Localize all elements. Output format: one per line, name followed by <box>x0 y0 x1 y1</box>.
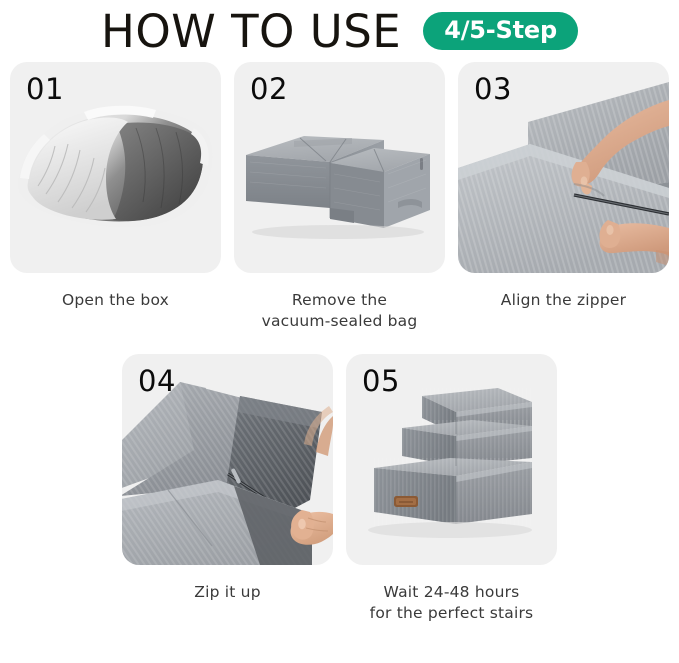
step-caption-01: Open the box <box>62 290 169 311</box>
step-caption-03: Align the zipper <box>501 290 626 311</box>
step-card-02: 02 <box>234 62 445 332</box>
steps-row-bottom: 04 <box>0 354 679 624</box>
page-header: HOW TO USE 4/5-Step <box>0 0 679 62</box>
step-card-04: 04 <box>122 354 333 624</box>
page-title: HOW TO USE <box>101 9 401 54</box>
step-image-card-03: 03 <box>458 62 669 273</box>
step-number-03: 03 <box>474 73 512 105</box>
step-number-05: 05 <box>362 365 400 397</box>
step-caption-04: Zip it up <box>194 582 260 603</box>
step-number-01: 01 <box>26 73 64 105</box>
step-image-card-05: 05 <box>346 354 557 565</box>
step-card-03: 03 <box>458 62 669 332</box>
step-count-badge: 4/5-Step <box>423 12 578 50</box>
step-card-05: 05 <box>346 354 557 624</box>
step-image-card-04: 04 <box>122 354 333 565</box>
step-number-02: 02 <box>250 73 288 105</box>
steps-row-top: 01 <box>0 62 679 332</box>
step-card-01: 01 <box>10 62 221 332</box>
step-image-card-02: 02 <box>234 62 445 273</box>
steps-grid: 01 <box>0 62 679 624</box>
step-caption-05: Wait 24-48 hours for the perfect stairs <box>370 582 534 624</box>
step-image-card-01: 01 <box>10 62 221 273</box>
step-caption-02: Remove the vacuum-sealed bag <box>262 290 418 332</box>
step-number-04: 04 <box>138 365 176 397</box>
